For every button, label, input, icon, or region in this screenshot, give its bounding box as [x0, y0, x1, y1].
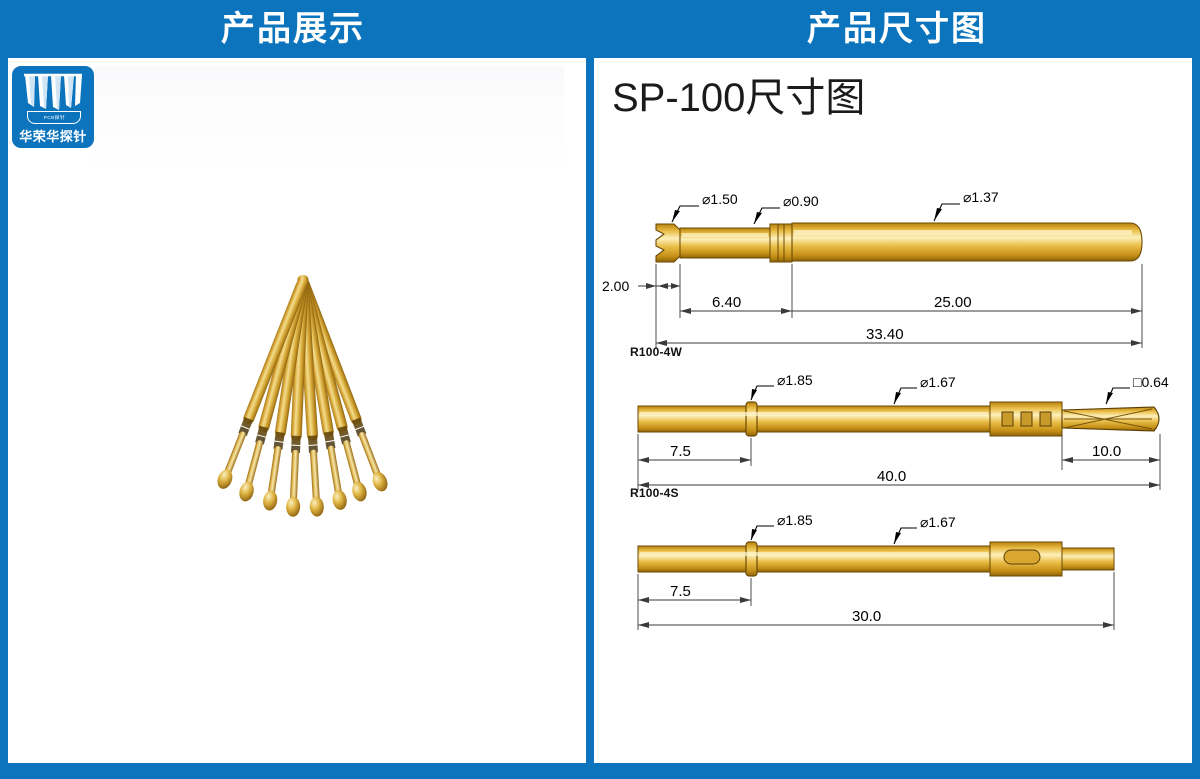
dimension-40-0: 40.0	[638, 468, 1160, 488]
dimension-7-5-w: 7.5	[638, 443, 751, 463]
callout-dia-1-37: ⌀1.37	[963, 189, 999, 205]
company-logo: PCB探针 华荣华探针	[12, 66, 94, 148]
svg-text:10.0: 10.0	[1092, 443, 1121, 460]
svg-text:30.0: 30.0	[852, 608, 881, 625]
svg-text:25.00: 25.00	[934, 294, 972, 311]
dimension-25-00: 25.00	[792, 294, 1142, 314]
dimension-7-5-s: 7.5	[638, 583, 751, 603]
header-bar-product-dimensions: 产品尺寸图	[594, 0, 1200, 58]
logo-band: PCB探针	[27, 111, 81, 124]
svg-text:33.40: 33.40	[866, 326, 904, 343]
callout-dia-1-67-w: ⌀1.67	[920, 374, 956, 390]
logo-mark-text: PCB探针	[43, 114, 65, 121]
svg-text:2.00: 2.00	[602, 278, 629, 294]
drawing-sheet-title: SP-100尺寸图	[612, 78, 865, 118]
background-watermark	[94, 66, 564, 176]
drawing-r100-4w: ⌀1.85 ⌀1.67 □0.64 7.5	[594, 358, 1192, 518]
right-panel-dimension-drawings: SP-100尺寸图	[594, 58, 1192, 763]
callout-dia-0-90: ⌀0.90	[783, 193, 819, 209]
probe-fan-illustration	[158, 253, 448, 553]
panel-divider	[586, 0, 594, 763]
product-spec-page: 产品展示 产品尺寸图	[0, 0, 1200, 779]
svg-text:7.5: 7.5	[670, 583, 691, 600]
flange-geometry	[746, 542, 757, 576]
crown-tip-geometry	[656, 224, 680, 262]
receptacle-body-geometry	[638, 546, 990, 572]
frame-border-left	[0, 0, 8, 779]
logo-brand-text: 华荣华探针	[19, 130, 87, 143]
frame-border-bottom	[0, 763, 1200, 779]
header-title-right: 产品尺寸图	[807, 12, 987, 46]
dimension-2-00: 2.00	[602, 278, 680, 294]
drawing-sp-100-head: ⌀1.50 ⌀0.90 ⌀1.37 2.00	[594, 168, 1192, 368]
callout-dia-1-50: ⌀1.50	[702, 191, 738, 207]
dimension-30-0: 30.0	[638, 608, 1114, 628]
svg-text:6.40: 6.40	[712, 294, 741, 311]
callout-dia-1-85-s: ⌀1.85	[777, 512, 813, 528]
callout-dia-1-67-s: ⌀1.67	[920, 514, 956, 530]
plunger-geometry	[680, 228, 770, 258]
product-photo	[158, 253, 448, 553]
logo-mark: PCB探针	[17, 69, 89, 129]
receptacle-body-geometry	[638, 406, 990, 432]
callout-dia-1-85-w: ⌀1.85	[777, 372, 813, 388]
drawing-r100-4s: ⌀1.85 ⌀1.67 7.5	[594, 498, 1192, 658]
barrel-geometry	[792, 223, 1142, 261]
dimension-33-40: 33.40	[656, 326, 1142, 346]
frame-border-right	[1192, 0, 1200, 779]
svg-text:40.0: 40.0	[877, 468, 906, 485]
part-label-r100-4w: R100-4W	[630, 345, 682, 359]
crown-logo-icon	[23, 73, 83, 115]
header-title-left: 产品展示	[221, 12, 365, 46]
left-panel-product-showcase: PCB探针 华荣华探针	[8, 58, 586, 763]
header-bar-product-showcase: 产品展示	[0, 0, 586, 58]
dimension-6-40: 6.40	[680, 294, 792, 314]
flange-geometry	[746, 402, 757, 436]
svg-text:7.5: 7.5	[670, 443, 691, 460]
callout-sq-0-64: □0.64	[1133, 374, 1169, 390]
dimension-10-0: 10.0	[1062, 443, 1160, 463]
